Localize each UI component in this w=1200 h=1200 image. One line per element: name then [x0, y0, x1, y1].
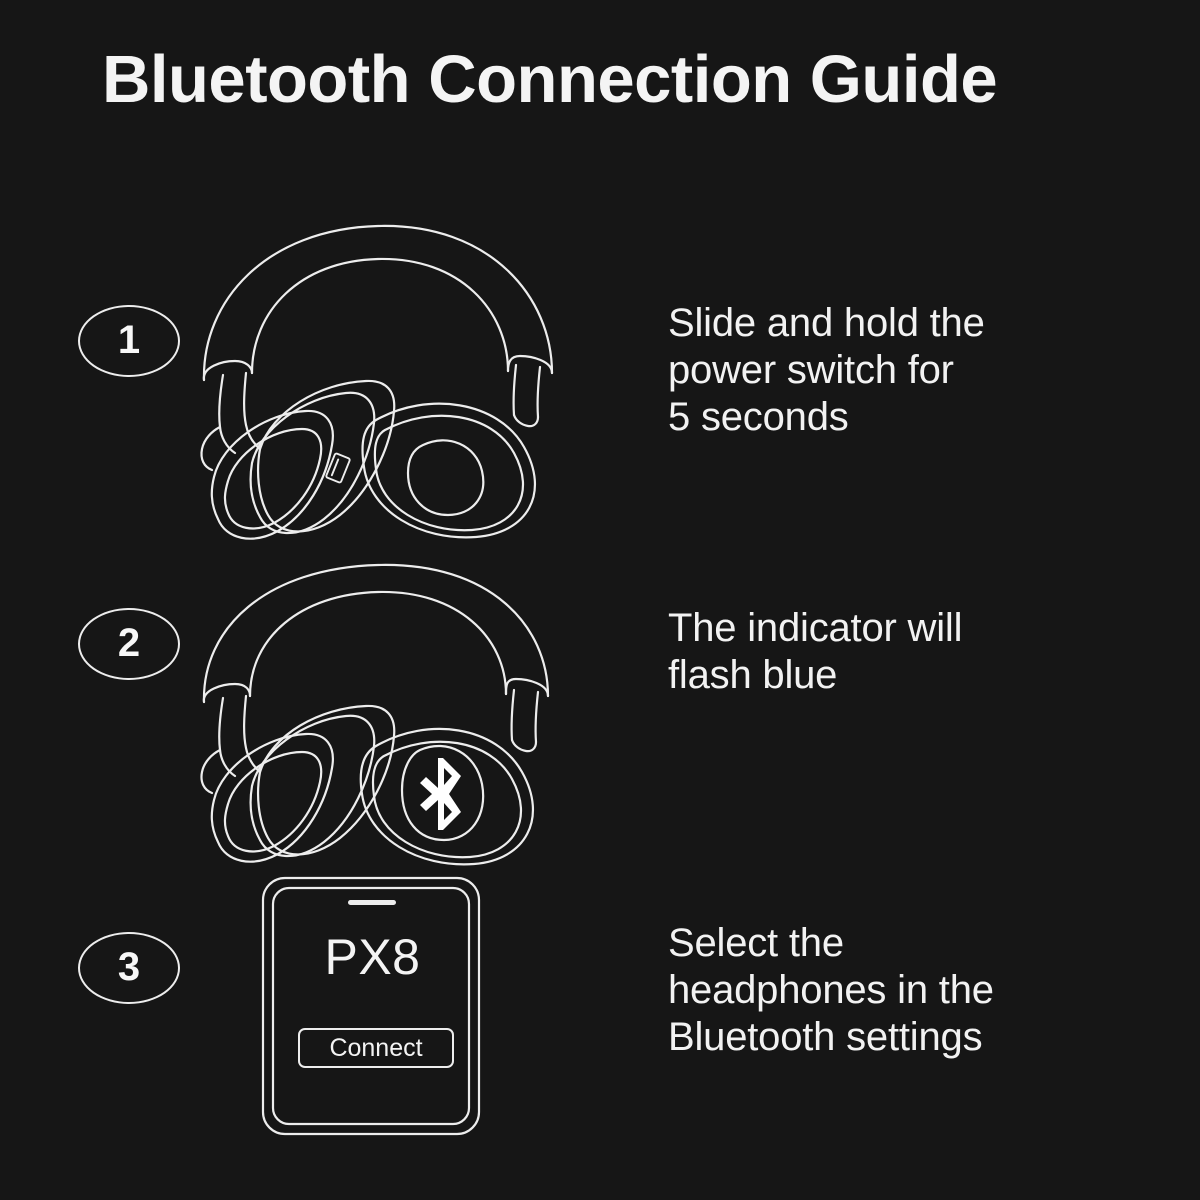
step-number-badge-2: 2	[78, 608, 180, 680]
bluetooth-icon	[420, 758, 461, 830]
headphones-illustration-step2	[180, 550, 580, 880]
step-description-1: Slide and hold the power switch for 5 se…	[668, 300, 1138, 442]
step-row-2: 2	[0, 550, 1200, 880]
step-row-1: 1	[0, 215, 1200, 545]
step-number-label-1: 1	[118, 320, 140, 360]
phone-illustration-step3	[255, 870, 495, 1150]
connect-button-label: Connect	[329, 1036, 422, 1061]
step-number-badge-1: 1	[78, 305, 180, 377]
phone-device-name: PX8	[255, 928, 490, 986]
step-description-2: The indicator will flash blue	[668, 605, 1138, 699]
step-number-badge-3: 3	[78, 932, 180, 1004]
step-number-label-3: 3	[118, 947, 140, 987]
step-number-label-2: 2	[118, 623, 140, 663]
step-row-3: 3 Select the headphones in the Bluetooth…	[0, 870, 1200, 1160]
page-title: Bluetooth Connection Guide	[102, 42, 1112, 117]
phone-speaker-bar-icon	[348, 900, 396, 905]
bluetooth-connection-guide-page: Bluetooth Connection Guide 1	[0, 0, 1200, 1200]
step-description-3: Select the headphones in the Bluetooth s…	[668, 920, 1138, 1062]
connect-button[interactable]: Connect	[298, 1028, 454, 1068]
headphones-illustration-step1	[180, 215, 580, 545]
